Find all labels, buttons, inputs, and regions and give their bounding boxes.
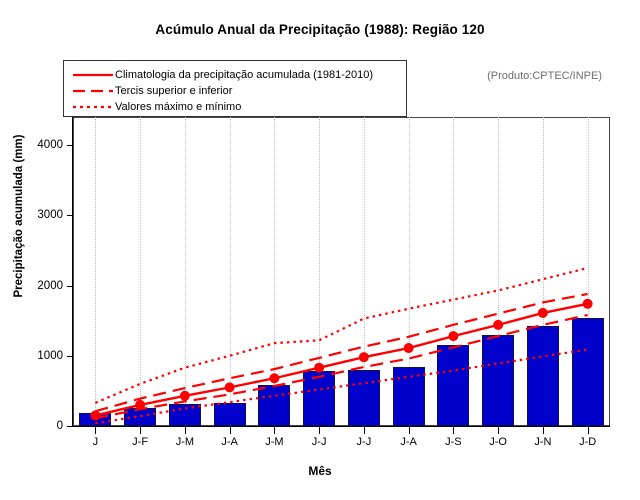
legend-label: Climatologia da precipitação acumulada (… [115,69,373,81]
series-marker [359,352,369,362]
legend-key-dotted-icon [71,101,115,113]
series-marker [538,308,548,318]
x-tick-mark [95,427,96,434]
series-marker [269,373,279,383]
chart-title: Acúmulo Anual da Precipitação (1988): Re… [0,22,640,37]
x-tick-mark [319,427,320,434]
x-tick-mark [274,427,275,434]
legend-item: Valores máximo e mínimo [64,99,406,114]
x-tick-label: J-M [176,436,194,448]
legend-item: Tercis superior e inferior [64,83,406,98]
series-marker [404,343,414,353]
x-tick-mark [185,427,186,434]
x-tick-label: J-O [489,436,507,448]
x-tick-mark [588,427,589,434]
series-marker [225,382,235,392]
series-marker [135,400,145,410]
x-tick-label: J-J [357,436,372,448]
y-tick-label: 1000 [37,350,63,362]
x-tick-mark [140,427,141,434]
x-tick-label: J-N [534,436,551,448]
y-tick-label: 2000 [37,280,63,292]
legend-label: Tercis superior e inferior [115,85,232,97]
x-tick-label: J-J [312,436,327,448]
x-axis-spine [73,426,610,427]
series-marker [90,410,100,420]
series-line [95,294,587,411]
series-line [95,349,587,423]
source-note: (Produto:CPTEC/INPE) [487,70,602,82]
legend: Climatologia da precipitação acumulada (… [63,60,407,117]
legend-key-dashed-icon [71,85,115,97]
x-tick-label: J [93,436,99,448]
series-marker [180,391,190,401]
series-line [95,268,587,403]
x-tick-mark [498,427,499,434]
y-tick-label: 3000 [37,209,63,221]
y-tick-label: 4000 [37,139,63,151]
x-tick-mark [409,427,410,434]
plot-area [73,117,610,426]
x-tick-mark [453,427,454,434]
x-tick-label: J-A [400,436,417,448]
series-line [95,304,587,416]
legend-key-solid-icon [71,69,115,81]
series-marker [448,331,458,341]
x-tick-label: J-A [221,436,238,448]
series-marker [493,320,503,330]
series-line [95,315,587,418]
x-tick-label: J-D [579,436,596,448]
x-tick-mark [543,427,544,434]
x-tick-mark [230,427,231,434]
x-tick-label: J-F [132,436,148,448]
line-series-overlay [73,117,610,426]
x-tick-mark [364,427,365,434]
y-axis-title: Precipitação acumulada (mm) [13,101,25,331]
series-marker [583,299,593,309]
y-tick-label: 0 [57,420,63,432]
x-tick-label: J-S [445,436,462,448]
y-tick-mark [67,426,73,427]
series-marker [314,363,324,373]
x-axis-title: Mês [0,464,640,478]
chart-root: Acúmulo Anual da Precipitação (1988): Re… [0,0,640,500]
legend-item: Climatologia da precipitação acumulada (… [64,67,406,82]
x-tick-label: J-M [265,436,283,448]
legend-label: Valores máximo e mínimo [115,101,241,113]
